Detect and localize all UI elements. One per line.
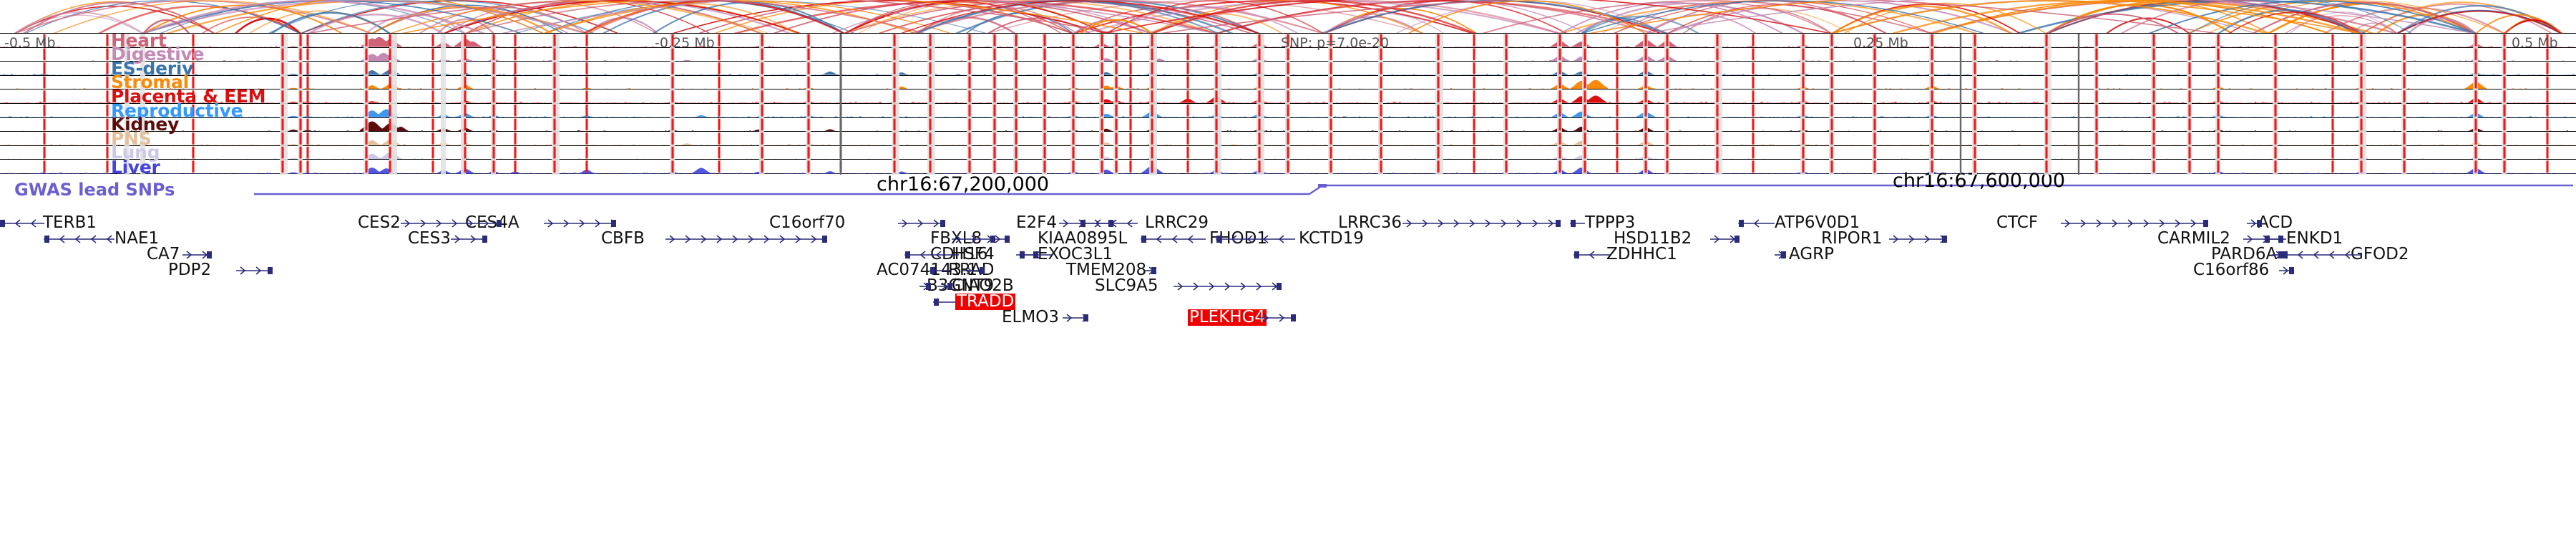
signal-tracks-panel: HeartDigestiveES-derivStromalPlacenta & … bbox=[0, 33, 2576, 174]
signal-track-placenta-eem[interactable]: Placenta & EEM bbox=[0, 89, 2576, 104]
gene-label-agrp[interactable]: AGRP bbox=[1789, 246, 1834, 263]
track-label-liver: Liver bbox=[111, 158, 160, 176]
gene-label-plekhg4[interactable]: PLEKHG4 bbox=[1188, 309, 1267, 326]
arcs-svg bbox=[0, 0, 2576, 34]
gene-label-cbfb[interactable]: CBFB bbox=[601, 231, 645, 247]
signal-track-lung[interactable]: Lung bbox=[0, 146, 2576, 160]
gene-label-slc9a5[interactable]: SLC9A5 bbox=[1095, 278, 1158, 294]
gene-label-enkd1[interactable]: ENKD1 bbox=[2286, 231, 2343, 247]
axis-label-left: -0.5 Mb bbox=[4, 35, 56, 51]
gene-annotation-track: TERB1CES2CES4AC16orf70E2F4LRRC29LRRC36TP… bbox=[0, 215, 2576, 322]
axis-label-mid-left: -0.25 Mb bbox=[655, 35, 715, 51]
gene-label-ctcf[interactable]: CTCF bbox=[1996, 215, 2038, 231]
gene-label-kctd19[interactable]: KCTD19 bbox=[1299, 231, 1364, 247]
gene-label-c16orf86[interactable]: C16orf86 bbox=[2193, 262, 2269, 279]
gene-label-c16orf70[interactable]: C16orf70 bbox=[769, 215, 845, 231]
gene-label-ces3[interactable]: CES3 bbox=[408, 231, 451, 247]
signal-track-liver[interactable]: Liver bbox=[0, 160, 2576, 174]
gene-label-lrrc29[interactable]: LRRC29 bbox=[1145, 215, 1209, 231]
gene-label-zdhhc1[interactable]: ZDHHC1 bbox=[1606, 246, 1677, 263]
coord-label-right: chr16:67,600,000 bbox=[1893, 170, 2065, 192]
signal-track-es-deriv[interactable]: ES-deriv bbox=[0, 62, 2576, 76]
coord-label-left: chr16:67,200,000 bbox=[877, 173, 1049, 195]
interaction-arcs-panel bbox=[0, 0, 2576, 34]
gene-label-pdp2[interactable]: PDP2 bbox=[168, 262, 211, 279]
track-list: HeartDigestiveES-derivStromalPlacenta & … bbox=[0, 34, 2576, 174]
axis-label-mid-right: 0.25 Mb bbox=[1853, 35, 1908, 51]
signal-track-reproductive[interactable]: Reproductive bbox=[0, 104, 2576, 118]
gene-label-ces4a[interactable]: CES4A bbox=[465, 215, 519, 231]
gene-label-elmo3[interactable]: ELMO3 bbox=[1002, 309, 1059, 326]
gene-label-gfod2[interactable]: GFOD2 bbox=[2351, 246, 2409, 263]
gene-label-terb1[interactable]: TERB1 bbox=[43, 215, 97, 231]
genome-browser-view: HeartDigestiveES-derivStromalPlacenta & … bbox=[0, 0, 2576, 537]
signal-track-stromal[interactable]: Stromal bbox=[0, 76, 2576, 90]
gene-label-ces2[interactable]: CES2 bbox=[358, 215, 401, 231]
snp-pvalue-label: SNP: p=7.0e-20 bbox=[1281, 35, 1389, 51]
signal-track-pns[interactable]: PNS bbox=[0, 132, 2576, 146]
gwas-axis-line bbox=[0, 184, 2576, 213]
axis-label-right: 0.5 Mb bbox=[2512, 35, 2558, 51]
gene-label-fhod1[interactable]: FHOD1 bbox=[1209, 231, 1267, 247]
signal-track-kidney[interactable]: Kidney bbox=[0, 118, 2576, 132]
